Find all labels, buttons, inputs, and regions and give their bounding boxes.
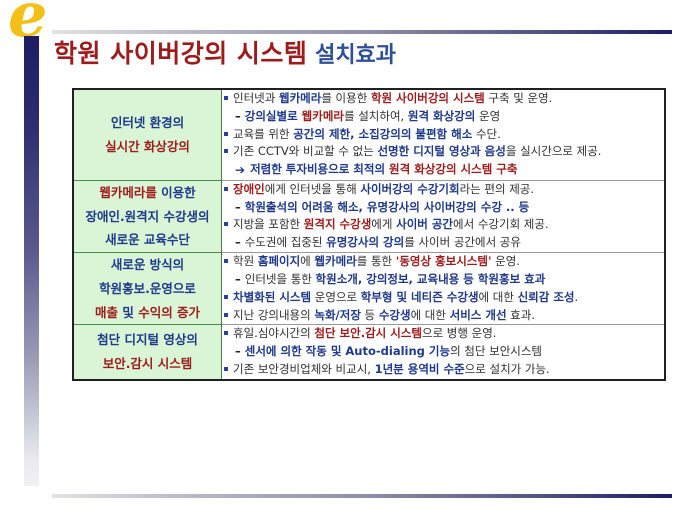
detail-text-segment: 서비스 개선 — [450, 308, 507, 322]
detail-bullet-line: 교육를 위한 공간의 제한, 소집강의의 불편함 해소 수단. — [222, 126, 664, 144]
detail-text-segment: 휴일.심야시간의 — [233, 326, 314, 340]
detail-text: 인터넷을 통한 학원소개, 강의정보, 교육내용 등 학원홍보 효과 — [245, 271, 546, 289]
detail-text-segment: 에 — [300, 254, 314, 268]
detail-text-segment: 원격 화상강의 — [408, 109, 475, 123]
detail-text-segment: 강의실별로 — [245, 109, 302, 123]
detail-text-segment: 유명강사의 강의 — [326, 235, 404, 249]
detail-text: 센서에 의한 작동 및 Auto-dialing 기능의 첨단 보안시스템 — [245, 343, 542, 361]
category-text-navy: 첨단 디지털 영상의 — [97, 332, 198, 347]
category-text-navy: 장애인.원격지 수강생의 — [85, 209, 209, 224]
row-detail-cell: 휴일.심야시간의 첨단 보안.감시 시스템으로 병행 운영.–센서에 의한 작동… — [222, 325, 665, 379]
dash-marker-icon: – — [235, 343, 241, 361]
effects-table-grid: 인터넷 환경의실시간 화상강의인터넷과 웹카메라를 이용한 학원 사이버강의 시… — [74, 90, 664, 379]
detail-subline: –인터넷을 통한 학원소개, 강의정보, 교육내용 등 학원홍보 효과 — [222, 271, 664, 289]
dash-marker-icon: – — [235, 108, 241, 126]
detail-text: 저렴한 투자비용으로 최적의 원격 화상강의 시스템 구축 — [250, 161, 517, 179]
detail-text: 지난 강의내용의 녹화/저장 등 수강생에 대한 서비스 개선 효과. — [233, 307, 535, 325]
row-category-line: 보안.감시 시스템 — [74, 352, 221, 376]
detail-text-segment: 를 통한 — [357, 254, 396, 268]
row-category-line: 새로운 방식의 — [74, 253, 221, 277]
square-bullet-icon — [224, 149, 228, 153]
detail-text-segment: 에게 인터넷을 통해 — [265, 182, 361, 196]
detail-text-segment: 첨단 보안.감시 시스템 — [314, 326, 422, 340]
detail-text: 인터넷과 웹카메라를 이용한 학원 사이버강의 시스템 구축 및 운영. — [233, 90, 552, 108]
detail-text-segment: 에 대한 — [479, 290, 518, 304]
detail-text-segment: 사이버강의 수강기회 — [360, 182, 459, 196]
row-category-line: 인터넷 환경의 — [74, 111, 221, 135]
detail-text-segment: 신뢰감 조성 — [518, 290, 575, 304]
effects-table-body: 인터넷 환경의실시간 화상강의인터넷과 웹카메라를 이용한 학원 사이버강의 시… — [74, 90, 664, 379]
detail-text-segment: 라는 편의 제공. — [460, 182, 534, 196]
row-category-line: 새로운 교육수단 — [74, 228, 221, 252]
row-category-line: 매출 및 수익의 증가 — [74, 301, 221, 325]
detail-text-segment: 의 첨단 보안시스템 — [450, 344, 542, 358]
square-bullet-icon — [224, 295, 228, 299]
row-category-cell: 첨단 디지털 영상의보안.감시 시스템 — [74, 325, 222, 379]
detail-text-segment: 센서에 의한 작동 및 Auto-dialing 기능 — [245, 344, 450, 358]
left-gradient-bar — [24, 36, 39, 486]
detail-text-segment: 수강생 — [379, 308, 411, 322]
row-detail-cell: 학원 홈페이지에 웹카메라를 통한 '동영상 홍보시스템' 운영.–인터넷을 통… — [222, 253, 665, 325]
detail-subline: –센서에 의한 작동 및 Auto-dialing 기능의 첨단 보안시스템 — [222, 343, 664, 361]
row-category-cell: 새로운 방식의학원홍보.운영으로매출 및 수익의 증가 — [74, 253, 222, 325]
detail-text-segment: 으로 병행 운영. — [422, 326, 496, 340]
detail-conclusion-line: ➔저렴한 투자비용으로 최적의 원격 화상강의 시스템 구축 — [222, 161, 664, 180]
detail-text-segment: 교육를 위한 — [233, 127, 293, 141]
detail-text-segment: 웹카메라 — [302, 109, 344, 123]
row-category-line: 장애인.원격지 수강생의 — [74, 205, 221, 229]
square-bullet-icon — [224, 259, 228, 263]
detail-text-segment: 녹화/저장 — [314, 308, 361, 322]
page-title-main: 학원 사이버강의 시스템 — [54, 39, 307, 68]
detail-text: 학원출석의 어려움 해소, 유명강사의 사이버강의 수강 .. 등 — [245, 199, 529, 217]
row-category-cell: 웹카메라를 이용한장애인.원격지 수강생의새로운 교육수단 — [74, 180, 222, 252]
category-text-navy: 이용한 — [161, 185, 196, 200]
detail-text-segment: 홈페이지 — [258, 254, 300, 268]
detail-text: 휴일.심야시간의 첨단 보안.감시 시스템으로 병행 운영. — [233, 325, 496, 343]
detail-bullet-line: 휴일.심야시간의 첨단 보안.감시 시스템으로 병행 운영. — [222, 325, 664, 343]
detail-text-segment: 를 이용한 — [321, 91, 371, 105]
category-text-navy: 및 — [118, 305, 138, 320]
detail-text-segment: 지방을 포함한 — [233, 217, 304, 231]
detail-text-segment: 학원소개, 강의정보, 교육내용 등 학원홍보 효과 — [316, 272, 546, 286]
detail-text-segment: 인터넷을 통한 — [245, 272, 316, 286]
square-bullet-icon — [224, 331, 228, 335]
square-bullet-icon — [224, 313, 228, 317]
detail-bullet-line: 지방을 포함한 원격지 수강생에게 사이버 공간에서 수강기회 제공. — [222, 216, 664, 234]
square-bullet-icon — [224, 187, 228, 191]
category-text-navy: 새로운 방식의 — [111, 257, 184, 272]
page-title-suffix: 설치효과 — [307, 43, 396, 68]
effects-table: 인터넷 환경의실시간 화상강의인터넷과 웹카메라를 이용한 학원 사이버강의 시… — [72, 88, 666, 381]
row-category-line: 첨단 디지털 영상의 — [74, 328, 221, 352]
detail-bullet-line: 차별화된 시스템 운영으로 학부형 및 네티즌 수강생에 대한 신뢰감 조성. — [222, 289, 664, 307]
detail-text-segment: 수도권에 집중된 — [245, 235, 326, 249]
page-title: 학원 사이버강의 시스템 설치효과 — [54, 40, 396, 69]
detail-text-segment: 지난 강의내용의 — [233, 308, 314, 322]
detail-text: 기존 보안경비업체와 비교시, 1년분 용역비 수준으로 설치가 가능. — [233, 361, 550, 379]
category-text-red: 보안.감시 시스템 — [103, 356, 193, 371]
detail-text-segment: 기존 보안경비업체와 비교시, — [233, 362, 375, 376]
detail-text-segment: 운영. — [491, 254, 519, 268]
category-text-red: 매출 — [95, 305, 118, 320]
detail-text-segment: . — [575, 290, 579, 304]
detail-text-segment: 운영 — [475, 109, 500, 123]
square-bullet-icon — [224, 222, 228, 226]
detail-text-segment: 사이버 공간 — [396, 217, 453, 231]
detail-text-segment: 을 실시간으로 제공. — [506, 144, 602, 158]
detail-text: 학원 홈페이지에 웹카메라를 통한 '동영상 홍보시스템' 운영. — [233, 253, 520, 271]
slide-canvas: e 학원 사이버강의 시스템 설치효과 인터넷 환경의실시간 화상강의인터넷과 … — [0, 0, 680, 510]
category-text-navy: 학원홍보.운영으로 — [99, 281, 196, 296]
detail-text-segment: 웹카메라 — [279, 91, 321, 105]
category-text-red: 웹카메라를 — [99, 185, 161, 200]
detail-text-segment: 를 사이버 공간에서 공유 — [404, 235, 521, 249]
row-category-line: 웹카메라를 이용한 — [74, 181, 221, 205]
detail-text-segment: 원격지 수강생 — [304, 217, 371, 231]
detail-text-segment: 웹카메라 — [314, 254, 356, 268]
row-category-cell: 인터넷 환경의실시간 화상강의 — [74, 90, 222, 180]
detail-text: 수도권에 집중된 유명강사의 강의를 사이버 공간에서 공유 — [245, 234, 521, 252]
detail-bullet-line: 인터넷과 웹카메라를 이용한 학원 사이버강의 시스템 구축 및 운영. — [222, 90, 664, 108]
row-category-line: 실시간 화상강의 — [74, 135, 221, 159]
bottom-gradient-rule — [52, 494, 672, 498]
detail-text-segment: 차별화된 시스템 — [233, 290, 311, 304]
detail-text-segment: 효과. — [507, 308, 535, 322]
detail-subline: –학원출석의 어려움 해소, 유명강사의 사이버강의 수강 .. 등 — [222, 199, 664, 217]
detail-text-segment: 구축 및 운영. — [485, 91, 553, 105]
category-text-red: 실시간 화상강의 — [105, 139, 190, 154]
category-text-red: 수익의 증가 — [138, 305, 200, 320]
detail-subline: –수도권에 집중된 유명강사의 강의를 사이버 공간에서 공유 — [222, 234, 664, 252]
detail-text: 강의실별로 웹카메라를 설치하여, 원격 화상강의 운영 — [245, 108, 500, 126]
detail-text: 지방을 포함한 원격지 수강생에게 사이버 공간에서 수강기회 제공. — [233, 216, 549, 234]
detail-bullet-line: 기존 CCTV와 비교할 수 없는 선명한 디지털 영상과 음성을 실시간으로 … — [222, 143, 664, 161]
detail-text-segment: 수단. — [472, 127, 500, 141]
detail-text-segment: 장애인 — [233, 182, 265, 196]
dash-marker-icon: – — [235, 199, 241, 217]
detail-text-segment: 등 — [361, 308, 379, 322]
square-bullet-icon — [224, 132, 228, 136]
detail-text: 기존 CCTV와 비교할 수 없는 선명한 디지털 영상과 음성을 실시간으로 … — [233, 143, 601, 161]
detail-bullet-line: 장애인에게 인터넷을 통해 사이버강의 수강기회라는 편의 제공. — [222, 181, 664, 199]
table-row: 웹카메라를 이용한장애인.원격지 수강생의새로운 교육수단장애인에게 인터넷을 … — [74, 180, 664, 252]
table-row: 인터넷 환경의실시간 화상강의인터넷과 웹카메라를 이용한 학원 사이버강의 시… — [74, 90, 664, 180]
detail-text-segment: 공간의 제한, 소집강의의 불편함 해소 — [293, 127, 472, 141]
dash-marker-icon: – — [235, 234, 241, 252]
detail-text-segment: '동영상 홍보시스템' — [396, 254, 492, 268]
detail-text-segment: 1년분 용역비 수준 — [375, 362, 465, 376]
right-arrow-icon: ➔ — [235, 161, 245, 180]
detail-text-segment: 에게 — [371, 217, 396, 231]
detail-bullet-line: 기존 보안경비업체와 비교시, 1년분 용역비 수준으로 설치가 가능. — [222, 361, 664, 379]
detail-text-segment: 기존 CCTV와 비교할 수 없는 — [233, 144, 377, 158]
category-text-navy: 새로운 교육수단 — [105, 232, 190, 247]
table-row: 새로운 방식의학원홍보.운영으로매출 및 수익의 증가학원 홈페이지에 웹카메라… — [74, 253, 664, 325]
row-detail-cell: 인터넷과 웹카메라를 이용한 학원 사이버강의 시스템 구축 및 운영.–강의실… — [222, 90, 665, 180]
detail-text-segment: 운영으로 — [311, 290, 361, 304]
detail-text-segment: 인터넷과 — [233, 91, 279, 105]
detail-text-segment: 으로 설치가 가능. — [465, 362, 550, 376]
detail-text-segment: 를 설치하여, — [344, 109, 408, 123]
detail-text-segment: 학원 — [233, 254, 258, 268]
detail-text-segment: 저렴한 투자비용으로 최적의 — [250, 162, 389, 176]
square-bullet-icon — [224, 367, 228, 371]
detail-text-segment: 에서 수강기회 제공. — [453, 217, 549, 231]
detail-bullet-line: 학원 홈페이지에 웹카메라를 통한 '동영상 홍보시스템' 운영. — [222, 253, 664, 271]
top-gradient-rule — [52, 30, 672, 34]
dash-marker-icon: – — [235, 271, 241, 289]
detail-bullet-line: 지난 강의내용의 녹화/저장 등 수강생에 대한 서비스 개선 효과. — [222, 307, 664, 325]
table-row: 첨단 디지털 영상의보안.감시 시스템휴일.심야시간의 첨단 보안.감시 시스템… — [74, 325, 664, 379]
detail-text: 교육를 위한 공간의 제한, 소집강의의 불편함 해소 수단. — [233, 126, 501, 144]
row-category-line: 학원홍보.운영으로 — [74, 277, 221, 301]
detail-text-segment: 원격 화상강의 시스템 구축 — [389, 162, 517, 176]
detail-text-segment: 학원 사이버강의 시스템 — [371, 91, 485, 105]
category-text-navy: 인터넷 환경의 — [111, 115, 184, 130]
detail-text-segment: 선명한 디지털 영상과 음성 — [377, 144, 505, 158]
detail-text-segment: 학원출석의 어려움 해소, 유명강사의 사이버강의 수강 .. 등 — [245, 200, 529, 214]
square-bullet-icon — [224, 96, 228, 100]
detail-text: 차별화된 시스템 운영으로 학부형 및 네티즌 수강생에 대한 신뢰감 조성. — [233, 289, 578, 307]
detail-subline: –강의실별로 웹카메라를 설치하여, 원격 화상강의 운영 — [222, 108, 664, 126]
detail-text-segment: 학부형 및 네티즌 수강생 — [361, 290, 479, 304]
detail-text-segment: 에 대한 — [411, 308, 450, 322]
detail-text: 장애인에게 인터넷을 통해 사이버강의 수강기회라는 편의 제공. — [233, 181, 534, 199]
row-detail-cell: 장애인에게 인터넷을 통해 사이버강의 수강기회라는 편의 제공.–학원출석의 … — [222, 180, 665, 252]
